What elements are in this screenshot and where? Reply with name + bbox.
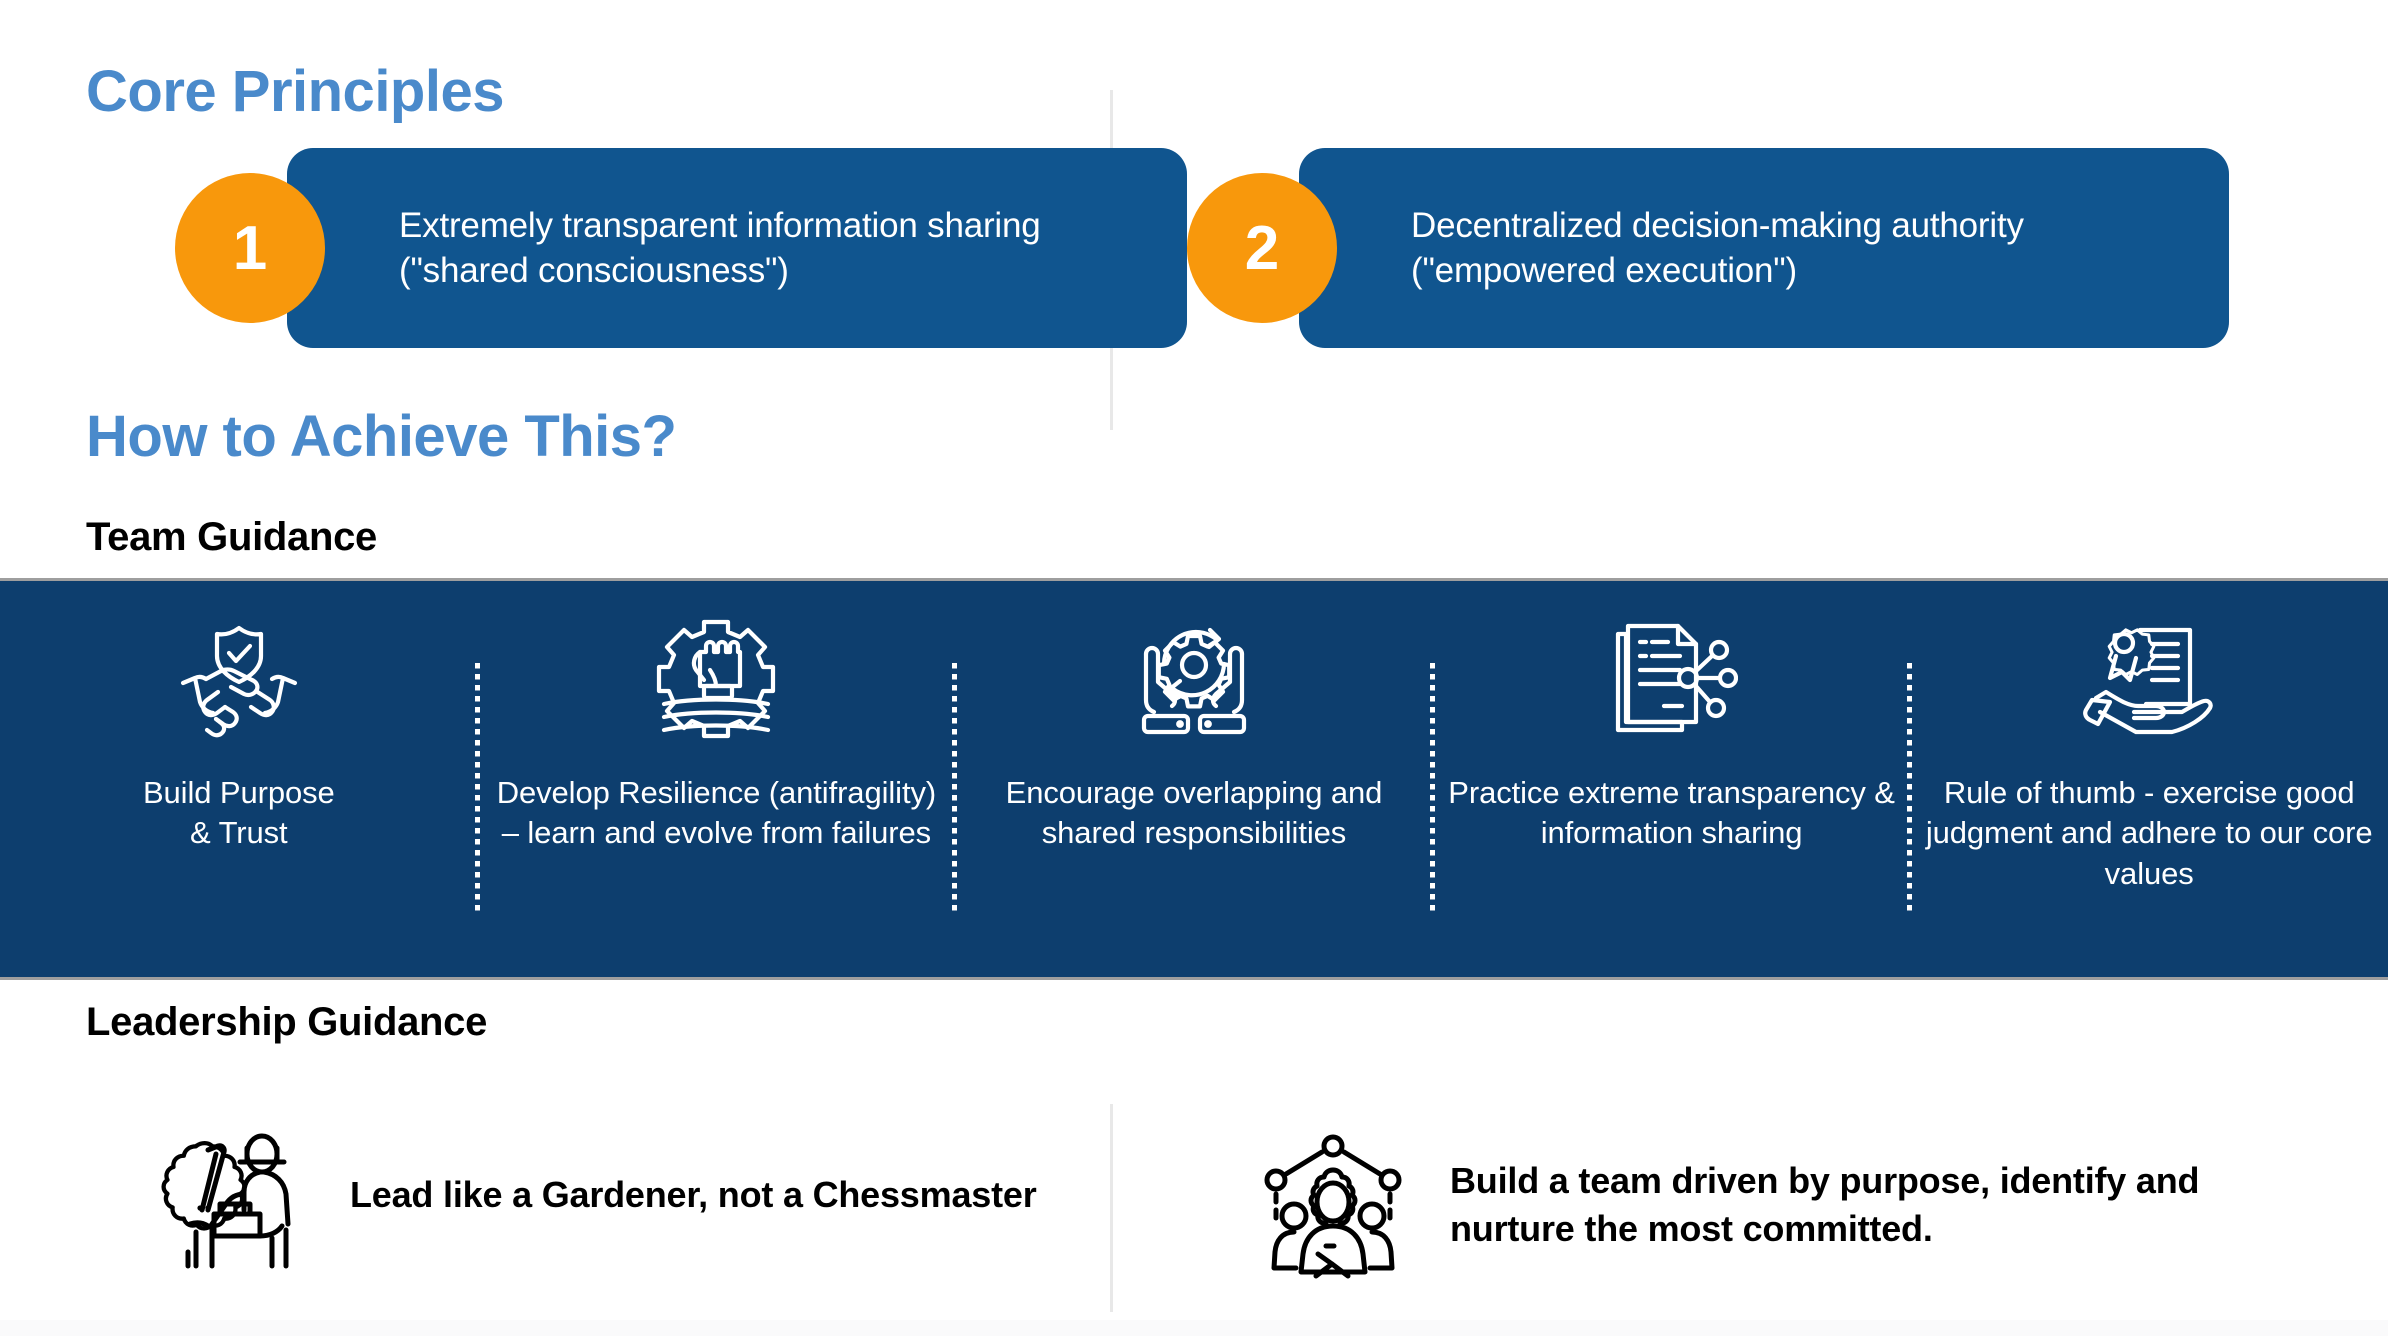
gear-fist-icon [641, 609, 791, 749]
hand-certificate-icon [2074, 609, 2224, 749]
team-guidance-item-3[interactable]: Encourage overlapping and shared respons… [955, 581, 1433, 977]
leadership-guidance-item-2-text: Build a team driven by purpose, identify… [1450, 1157, 2318, 1252]
principle-card-1-number: 1 [175, 173, 325, 323]
principle-card-1-text: Extremely transparent information sharin… [287, 203, 1187, 294]
team-guidance-item-2[interactable]: Develop Resilience (antifragility) – lea… [478, 581, 956, 977]
team-guidance-band: Build Purpose & Trust Develop Resili [0, 578, 2388, 980]
team-guidance-item-3-caption: Encourage overlapping and shared respons… [955, 773, 1433, 854]
caption-line-1: Build Purpose [143, 775, 335, 810]
document-share-network-icon [1597, 609, 1747, 749]
team-guidance-item-5[interactable]: Rule of thumb - exercise good judgment a… [1910, 581, 2388, 977]
principle-card-2-text: Decentralized decision-making authority … [1299, 203, 2229, 294]
vertical-divider-bottom [1110, 1104, 1113, 1312]
principle-card-2[interactable]: Decentralized decision-making authority … [1187, 148, 2057, 348]
slide-canvas: Core Principles How to Achieve This? Tea… [0, 0, 2388, 1336]
leadership-guidance-item-1[interactable]: Lead like a Gardener, not a Chessmaster [158, 1115, 1038, 1275]
team-guidance-item-1-caption: Build Purpose & Trust [0, 773, 478, 854]
hands-holding-gear-icon [1119, 609, 1269, 749]
team-guidance-item-4-caption: Practice extreme transparency & informat… [1433, 773, 1911, 854]
team-guidance-item-5-caption: Rule of thumb - exercise good judgment a… [1910, 773, 2388, 894]
principle-card-2-body: Decentralized decision-making authority … [1299, 148, 2229, 348]
principle-card-1-body: Extremely transparent information sharin… [287, 148, 1187, 348]
leadership-guidance-item-1-text: Lead like a Gardener, not a Chessmaster [350, 1171, 1037, 1219]
team-guidance-item-2-caption: Develop Resilience (antifragility) – lea… [478, 773, 956, 854]
caption-line-2: & Trust [190, 815, 288, 850]
gardener-icon [158, 1115, 308, 1275]
principle-card-1[interactable]: Extremely transparent information sharin… [175, 148, 1015, 348]
team-guidance-item-1[interactable]: Build Purpose & Trust [0, 581, 478, 977]
how-to-achieve-title: How to Achieve This? [86, 403, 676, 470]
core-principles-title: Core Principles [86, 58, 504, 125]
leadership-guidance-item-2[interactable]: Build a team driven by purpose, identify… [1258, 1125, 2318, 1285]
team-guidance-title: Team Guidance [86, 515, 377, 560]
bottom-strip [0, 1320, 2388, 1336]
team-network-icon [1258, 1125, 1408, 1285]
handshake-shield-icon [164, 609, 314, 749]
team-guidance-item-4[interactable]: Practice extreme transparency & informat… [1433, 581, 1911, 977]
principle-card-2-number: 2 [1187, 173, 1337, 323]
leadership-guidance-title: Leadership Guidance [86, 1000, 487, 1045]
